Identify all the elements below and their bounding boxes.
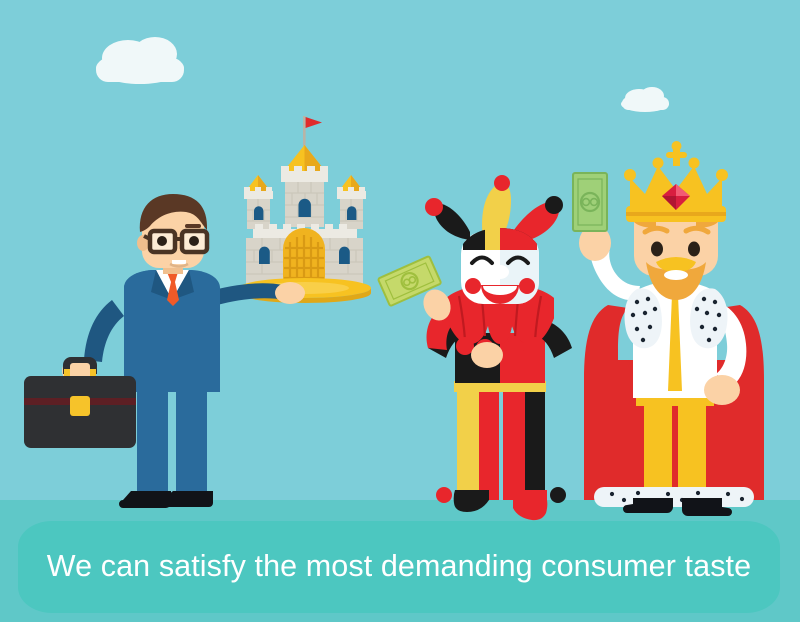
businessman-leg-right — [176, 388, 207, 501]
castle-left-window — [254, 206, 263, 220]
crown-band-line — [626, 212, 726, 216]
king-hand-right — [704, 375, 740, 405]
king-eye-left — [651, 242, 663, 257]
briefcase-clasp — [70, 396, 90, 416]
glasses — [144, 231, 207, 252]
jester-shoe-pompom-left — [436, 487, 452, 503]
businessman-mouth — [172, 260, 186, 264]
jester-leg-left-inner — [479, 390, 499, 500]
king-mouth — [664, 270, 688, 280]
jester-collar-bell-4 — [526, 337, 544, 355]
castle-wall-window-left — [259, 247, 270, 264]
king-leg-right — [678, 398, 706, 500]
jester-cheek-left — [465, 278, 481, 294]
jester-leg-right-inner — [503, 390, 525, 500]
castle-flag-pole — [303, 116, 306, 146]
jester-hand-right — [471, 342, 503, 368]
castle-right-window — [347, 206, 356, 220]
briefcase-rivet-left — [64, 369, 70, 377]
businessman-leg-left — [137, 388, 168, 501]
businessman-hand-right — [275, 282, 305, 304]
jester-hat-pompom-right — [545, 196, 563, 214]
crown-ball-far-right — [716, 169, 728, 181]
businessman-eye-right — [189, 236, 199, 246]
crown-ball-far-left — [624, 169, 636, 181]
jester-hat-pompom-left — [425, 198, 443, 216]
king-leg-left — [644, 398, 672, 500]
castle-left-battlement — [244, 187, 273, 199]
jester-hat-band-center — [485, 228, 500, 250]
jester-cheek-right — [519, 278, 535, 294]
jester-collar-bell-1 — [456, 337, 474, 355]
jester-shoe-pompom-right — [550, 487, 566, 503]
king-ermine-hem — [594, 487, 754, 507]
caption-banner: We can satisfy the most demanding consum… — [18, 521, 780, 613]
businessman-eyebrow — [185, 224, 201, 228]
crown-ball-left — [653, 158, 664, 169]
castle-wall-window-right — [339, 247, 350, 264]
jester-leg-left-outer — [457, 390, 479, 500]
caption-text: We can satisfy the most demanding consum… — [47, 551, 751, 582]
jester-hat-pompom-center — [494, 175, 510, 191]
illustration-canvas: We can satisfy the most demanding consum… — [0, 0, 800, 622]
jester-collar-bell-3 — [506, 339, 524, 357]
businessman-eye-left — [157, 236, 167, 246]
castle-right-battlement — [337, 187, 366, 199]
briefcase-rivet-right — [90, 369, 96, 377]
money-bill-king — [573, 173, 607, 231]
jester-nose — [491, 265, 509, 279]
crown-ball-right — [689, 158, 700, 169]
castle-center-window — [299, 199, 311, 217]
crown-cross-top — [672, 141, 682, 151]
crown-cross-arm — [666, 152, 687, 158]
king-eye-right — [688, 242, 700, 257]
jester-leg-right-outer — [525, 390, 545, 500]
